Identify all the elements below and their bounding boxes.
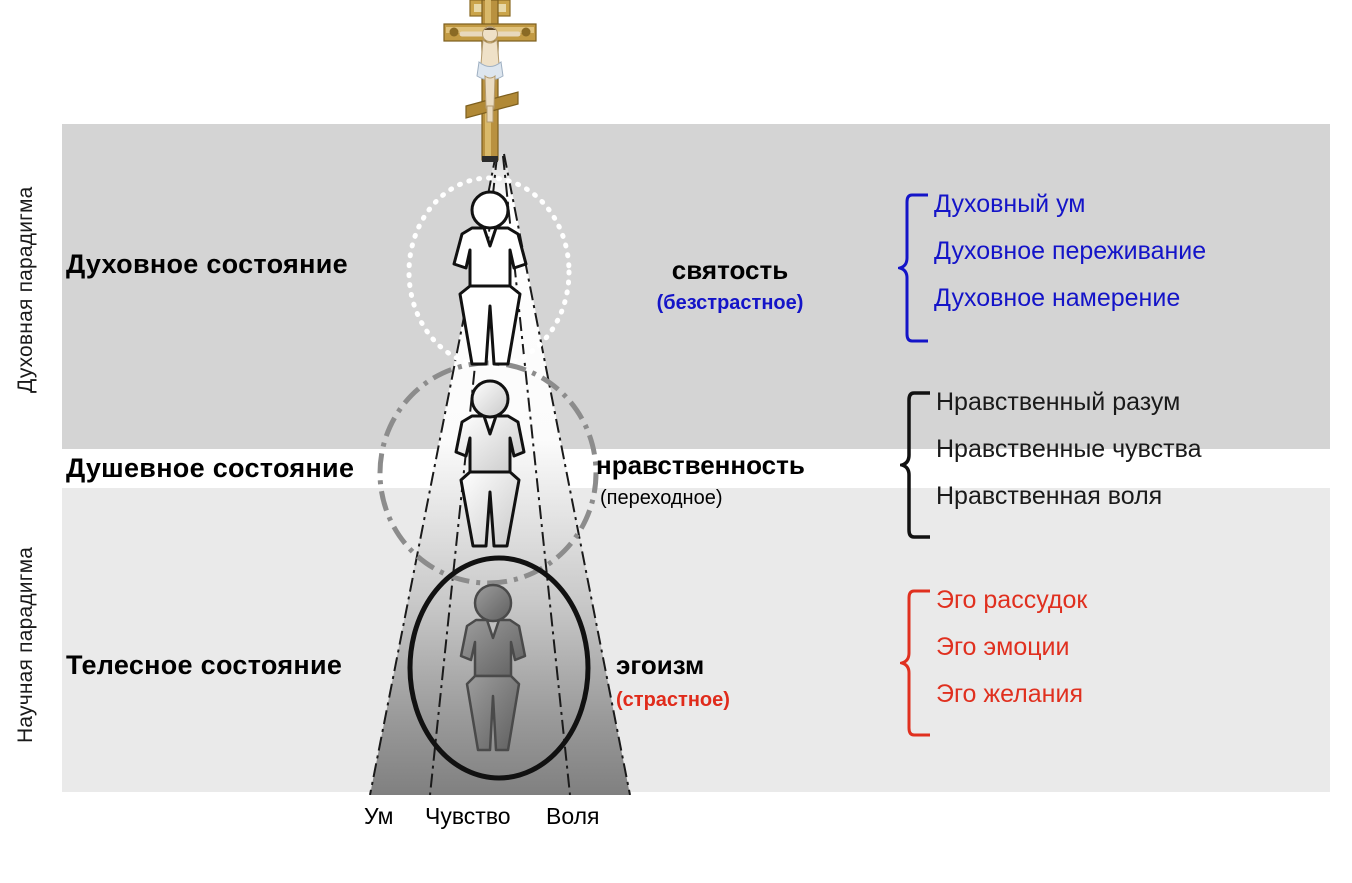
- curly-brace-icon: [898, 192, 932, 344]
- paradigm-label-spiritual: Духовная парадигма: [14, 140, 38, 440]
- state-label-soul: Душевное состояние: [66, 453, 354, 484]
- axis-label-um: Ум: [364, 803, 393, 830]
- quality-soul: нравственность (переходное): [596, 450, 805, 510]
- paradigm-label-scientific: Научная парадигма: [14, 500, 38, 790]
- faculty-item: Нравственный разум: [936, 390, 1202, 415]
- faculty-item: Эго рассудок: [936, 588, 1087, 613]
- faculty-group-soul: Нравственный разум Нравственные чувства …: [900, 390, 1300, 540]
- faculty-group-bodily: Эго рассудок Эго эмоции Эго желания: [900, 588, 1300, 738]
- quality-sub-spiritual: (безстрастное): [600, 292, 860, 315]
- curly-brace-icon: [900, 390, 934, 540]
- faculty-item: Нравственные чувства: [936, 437, 1202, 462]
- state-label-spiritual: Духовное состояние: [66, 249, 348, 280]
- faculty-item: Духовное намерение: [934, 286, 1206, 311]
- faculty-item: Эго желания: [936, 682, 1087, 707]
- orthodox-crucifix-icon: [432, 0, 548, 166]
- axis-label-chuvstvo: Чувство: [425, 803, 511, 830]
- faculty-item: Духовный ум: [934, 192, 1206, 217]
- faculty-item: Эго эмоции: [936, 635, 1087, 660]
- quality-main-spiritual: святость: [600, 255, 860, 286]
- axis-label-volya: Воля: [546, 803, 600, 830]
- curly-brace-icon: [900, 588, 934, 738]
- quality-sub-bodily: (страстное): [616, 689, 730, 712]
- faculty-group-spiritual: Духовный ум Духовное переживание Духовно…: [898, 192, 1298, 344]
- human-figure-spiritual: [430, 188, 550, 368]
- quality-main-soul: нравственность: [596, 450, 805, 481]
- human-figure-soul: [430, 378, 550, 550]
- faculty-item: Духовное переживание: [934, 239, 1206, 264]
- quality-bodily: эгоизм (страстное): [616, 650, 730, 712]
- quality-spiritual: святость (безстрастное): [600, 255, 860, 315]
- quality-main-bodily: эгоизм: [616, 650, 730, 681]
- state-label-bodily: Телесное состояние: [66, 650, 342, 681]
- quality-sub-soul: (переходное): [600, 487, 805, 510]
- faculty-item: Нравственная воля: [936, 484, 1202, 509]
- human-figure-bodily: [438, 582, 548, 754]
